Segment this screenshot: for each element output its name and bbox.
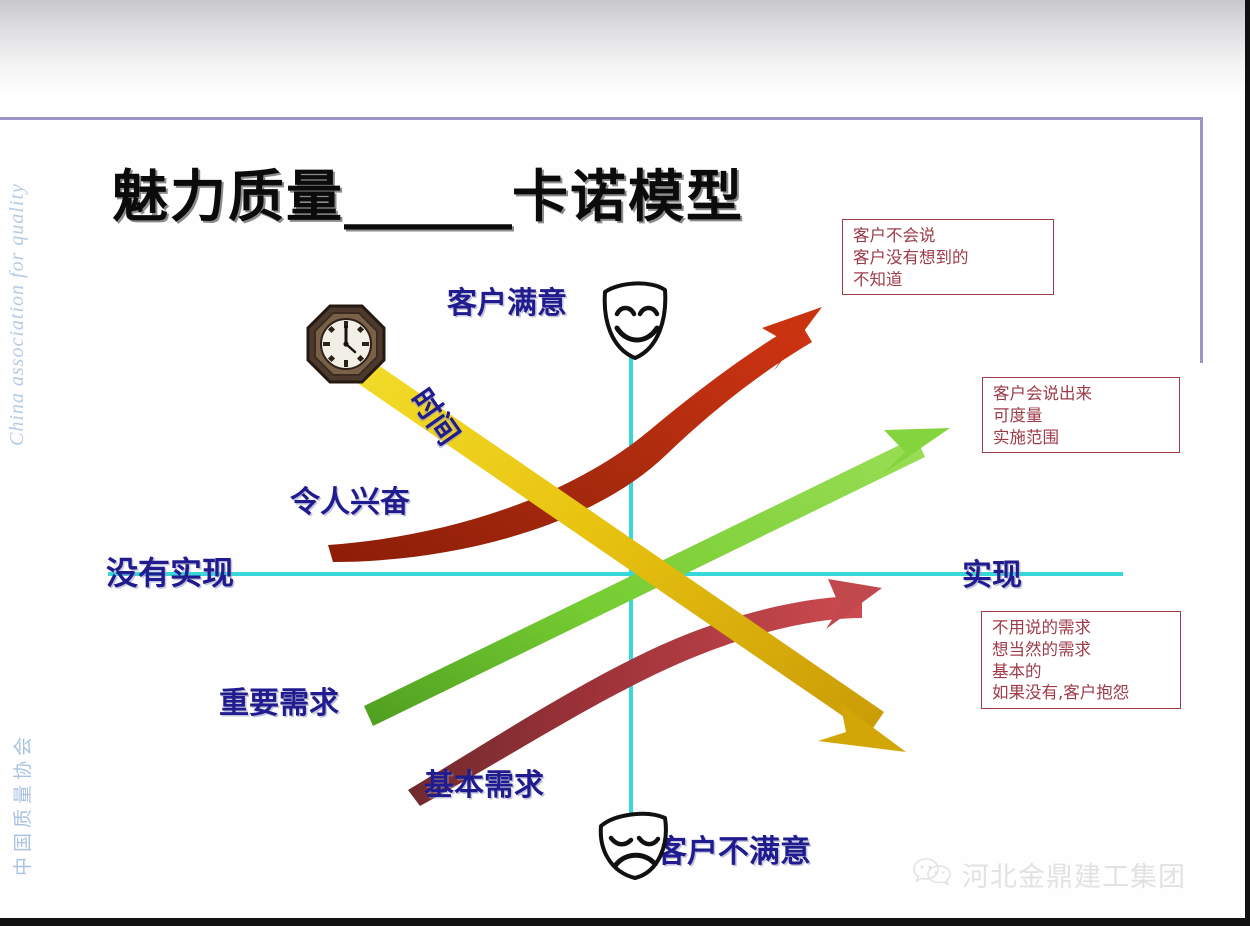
kano-curves-layer — [0, 0, 1250, 926]
clock-icon — [305, 303, 387, 390]
slide-frame-top-edge — [0, 117, 1203, 120]
curve-label-important: 重要需求 — [219, 678, 339, 722]
curve-label-basic: 基本需求 — [424, 760, 544, 804]
note-line: 客户不会说 — [853, 225, 1045, 247]
axis-label-fulfilled: 实现 — [962, 550, 1022, 594]
axis-label-dissatisfied: 客户不满意 — [656, 826, 811, 871]
note-attractive: 客户不会说 客户没有想到的 不知道 — [842, 219, 1054, 295]
curve-one-dimensional — [364, 428, 950, 726]
note-line: 如果没有,客户抱怨 — [992, 682, 1172, 704]
note-line: 基本的 — [992, 661, 1172, 683]
caq-chinese-watermark: 中国质量协会 — [8, 732, 35, 876]
axis-label-satisfied: 客户满意 — [447, 278, 567, 322]
axis-label-not-fulfilled: 没有实现 — [106, 548, 234, 594]
curve-label-exciting: 令人兴奋 — [290, 477, 410, 521]
publisher-name: 河北金鼎建工集团 — [962, 855, 1186, 894]
note-line: 可度量 — [993, 405, 1171, 427]
note-line: 想当然的需求 — [992, 639, 1172, 661]
bottom-black-edge — [0, 918, 1250, 926]
top-gradient-band — [0, 0, 1250, 92]
vertical-axis — [629, 318, 633, 830]
note-line: 实施范围 — [993, 427, 1171, 449]
note-line: 客户没有想到的 — [853, 247, 1045, 269]
sad-mask-icon — [595, 808, 675, 889]
publisher-watermark: 河北金鼎建工集团 — [912, 855, 1186, 894]
right-black-edge — [1245, 0, 1250, 926]
curve-label-time: 时间 — [402, 378, 472, 452]
wechat-icon — [912, 856, 952, 893]
note-line: 不用说的需求 — [992, 617, 1172, 639]
caq-english-watermark: China association for quality — [6, 183, 29, 446]
note-line: 客户会说出来 — [993, 383, 1171, 405]
slide-title: 魅力质量______卡诺模型 — [112, 152, 744, 233]
note-performance: 客户会说出来 可度量 实施范围 — [982, 377, 1180, 453]
happy-mask-icon — [597, 278, 673, 369]
note-line: 不知道 — [853, 269, 1045, 291]
title-main: 魅力质量 — [112, 165, 344, 230]
slide-canvas: 魅力质量______卡诺模型 — [0, 0, 1250, 926]
curve-attractive — [328, 307, 822, 562]
title-model: 卡诺模型 — [512, 165, 744, 230]
title-separator: ______ — [344, 165, 512, 230]
slide-frame-right-edge — [1200, 117, 1203, 363]
note-basic: 不用说的需求 想当然的需求 基本的 如果没有,客户抱怨 — [981, 611, 1181, 709]
